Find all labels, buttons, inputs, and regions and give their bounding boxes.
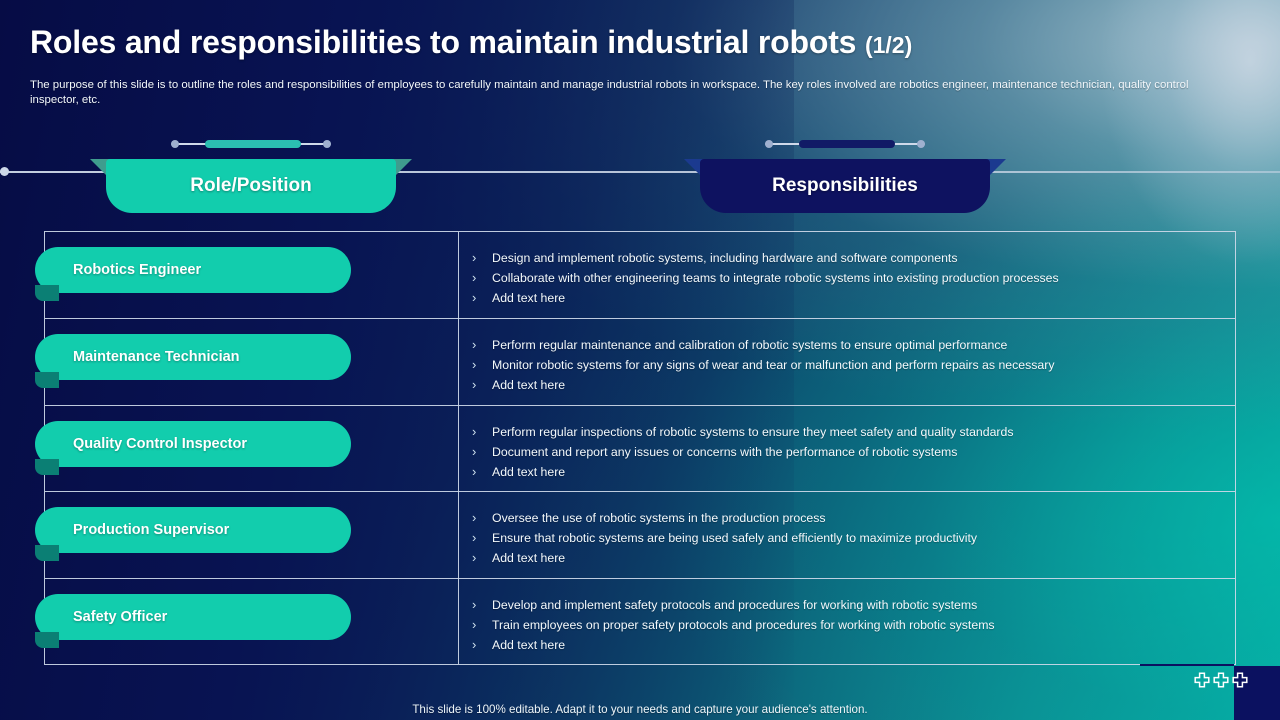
role-pill-label: Maintenance Technician bbox=[73, 349, 240, 365]
roles-table: Robotics Engineer ›Design and implement … bbox=[44, 231, 1236, 665]
list-item: ›Design and implement robotic systems, i… bbox=[472, 250, 1212, 267]
responsibilities-list: ›Perform regular maintenance and calibra… bbox=[472, 337, 1212, 397]
chevron-right-icon: › bbox=[472, 617, 492, 634]
chevron-right-icon: › bbox=[472, 597, 492, 614]
list-item: ›Add text here bbox=[472, 550, 1212, 567]
responsibilities-list: ›Perform regular inspections of robotic … bbox=[472, 424, 1212, 484]
chevron-right-icon: › bbox=[472, 464, 492, 481]
list-item: ›Add text here bbox=[472, 464, 1212, 481]
page-title-main: Roles and responsibilities to maintain i… bbox=[30, 24, 856, 60]
role-pill-shadow bbox=[35, 632, 59, 648]
page-title-part-indicator: (1/2) bbox=[865, 32, 912, 58]
footer-note: This slide is 100% editable. Adapt it to… bbox=[0, 703, 1280, 716]
list-item: ›Perform regular maintenance and calibra… bbox=[472, 337, 1212, 354]
list-item: ›Ensure that robotic systems are being u… bbox=[472, 530, 1212, 547]
chevron-right-icon: › bbox=[472, 424, 492, 441]
list-item-text: Document and report any issues or concer… bbox=[492, 444, 957, 461]
role-pill[interactable]: Robotics Engineer bbox=[35, 247, 351, 293]
table-row[interactable]: Production Supervisor ›Oversee the use o… bbox=[45, 492, 1235, 579]
list-item: ›Add text here bbox=[472, 637, 1212, 654]
list-item-text: Collaborate with other engineering teams… bbox=[492, 270, 1059, 287]
role-pill[interactable]: Production Supervisor bbox=[35, 507, 351, 553]
corner-accent-line bbox=[1140, 664, 1234, 666]
column-header-role-label: Role/Position bbox=[106, 159, 396, 213]
chevron-right-icon: › bbox=[472, 637, 492, 654]
list-item: ›Add text here bbox=[472, 290, 1212, 307]
list-item: ›Collaborate with other engineering team… bbox=[472, 270, 1212, 287]
list-item: ›Develop and implement safety protocols … bbox=[472, 597, 1212, 614]
list-item-text: Develop and implement safety protocols a… bbox=[492, 597, 977, 614]
column-header-responsibilities-label: Responsibilities bbox=[700, 159, 990, 213]
list-item: ›Document and report any issues or conce… bbox=[472, 444, 1212, 461]
list-item-text: Add text here bbox=[492, 637, 565, 654]
list-item-text: Design and implement robotic systems, in… bbox=[492, 250, 957, 267]
table-row[interactable]: Safety Officer ›Develop and implement sa… bbox=[45, 579, 1235, 666]
role-pill-label: Quality Control Inspector bbox=[73, 436, 247, 452]
list-item: ›Monitor robotic systems for any signs o… bbox=[472, 357, 1212, 374]
role-pill-label: Safety Officer bbox=[73, 609, 167, 625]
list-item: ›Add text here bbox=[472, 377, 1212, 394]
connector-dot-right bbox=[323, 140, 331, 148]
list-item-text: Add text here bbox=[492, 290, 565, 307]
responsibilities-list: ›Oversee the use of robotic systems in t… bbox=[472, 510, 1212, 570]
chevron-right-icon: › bbox=[472, 337, 492, 354]
plus-icon bbox=[1232, 672, 1248, 688]
page-title: Roles and responsibilities to maintain i… bbox=[30, 24, 1150, 61]
responsibilities-list: ›Design and implement robotic systems, i… bbox=[472, 250, 1212, 310]
responsibilities-list: ›Develop and implement safety protocols … bbox=[472, 597, 1212, 657]
page-subtitle: The purpose of this slide is to outline … bbox=[30, 78, 1215, 107]
table-row[interactable]: Quality Control Inspector ›Perform regul… bbox=[45, 406, 1235, 493]
list-item-text: Perform regular maintenance and calibrat… bbox=[492, 337, 1007, 354]
table-row[interactable]: Maintenance Technician ›Perform regular … bbox=[45, 319, 1235, 406]
list-item-text: Add text here bbox=[492, 377, 565, 394]
list-item-text: Train employees on proper safety protoco… bbox=[492, 617, 995, 634]
list-item: ›Oversee the use of robotic systems in t… bbox=[472, 510, 1212, 527]
chevron-right-icon: › bbox=[472, 444, 492, 461]
list-item-text: Oversee the use of robotic systems in th… bbox=[492, 510, 826, 527]
list-item: ›Perform regular inspections of robotic … bbox=[472, 424, 1212, 441]
connector-dot-left bbox=[765, 140, 773, 148]
role-pill[interactable]: Maintenance Technician bbox=[35, 334, 351, 380]
corner-cross-icons bbox=[1194, 672, 1248, 688]
chevron-right-icon: › bbox=[472, 357, 492, 374]
role-pill-shadow bbox=[35, 372, 59, 388]
chevron-right-icon: › bbox=[472, 377, 492, 394]
connector-dot-right bbox=[917, 140, 925, 148]
role-pill[interactable]: Quality Control Inspector bbox=[35, 421, 351, 467]
list-item-text: Perform regular inspections of robotic s… bbox=[492, 424, 1014, 441]
role-pill-label: Robotics Engineer bbox=[73, 262, 201, 278]
slide-canvas: Roles and responsibilities to maintain i… bbox=[0, 0, 1280, 720]
role-pill-shadow bbox=[35, 459, 59, 475]
list-item: ›Train employees on proper safety protoc… bbox=[472, 617, 1212, 634]
list-item-text: Add text here bbox=[492, 464, 565, 481]
chevron-right-icon: › bbox=[472, 270, 492, 287]
list-item-text: Monitor robotic systems for any signs of… bbox=[492, 357, 1055, 374]
chevron-right-icon: › bbox=[472, 250, 492, 267]
role-pill-label: Production Supervisor bbox=[73, 522, 229, 538]
connector-slug bbox=[799, 140, 895, 148]
plus-icon bbox=[1213, 672, 1229, 688]
column-header-role[interactable]: Role/Position bbox=[106, 159, 396, 213]
role-connector-decoration bbox=[171, 138, 331, 150]
connector-dot-left bbox=[171, 140, 179, 148]
chevron-right-icon: › bbox=[472, 530, 492, 547]
list-item-text: Ensure that robotic systems are being us… bbox=[492, 530, 977, 547]
role-pill[interactable]: Safety Officer bbox=[35, 594, 351, 640]
header-rail-dot bbox=[0, 167, 9, 176]
responsibilities-connector-decoration bbox=[765, 138, 925, 150]
column-header-responsibilities[interactable]: Responsibilities bbox=[700, 159, 990, 213]
connector-slug bbox=[205, 140, 301, 148]
role-pill-shadow bbox=[35, 545, 59, 561]
plus-icon bbox=[1194, 672, 1210, 688]
chevron-right-icon: › bbox=[472, 290, 492, 307]
chevron-right-icon: › bbox=[472, 550, 492, 567]
table-row[interactable]: Robotics Engineer ›Design and implement … bbox=[45, 232, 1235, 319]
role-pill-shadow bbox=[35, 285, 59, 301]
list-item-text: Add text here bbox=[492, 550, 565, 567]
chevron-right-icon: › bbox=[472, 510, 492, 527]
